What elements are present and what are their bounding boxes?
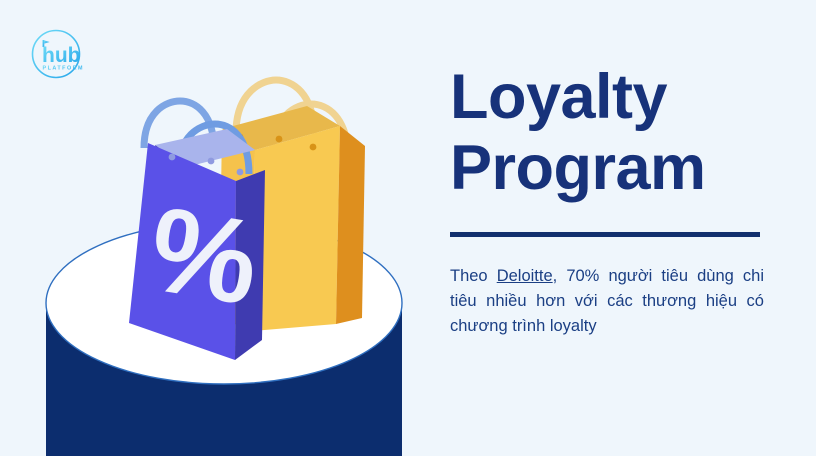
yellow-bag-grommet-icon — [276, 136, 283, 143]
body-lead-text: Theo — [450, 267, 497, 285]
yellow-bag-side-face — [336, 126, 365, 324]
title-divider — [450, 232, 760, 237]
text-column: Loyalty Program Theo Deloitte, 70% người… — [450, 62, 770, 356]
purple-bag-grommet-icon — [169, 154, 176, 161]
purple-bag-grommet-icon — [237, 169, 244, 176]
purple-bag-grommet-icon — [208, 158, 215, 165]
body-paragraph: Theo Deloitte, 70% người tiêu dùng chi t… — [450, 264, 764, 339]
illustration-shopping-bags: % — [0, 0, 440, 456]
slide-canvas: hub PLATFORM — [0, 0, 816, 456]
page-title: Loyalty Program — [450, 62, 770, 203]
yellow-bag-grommet-icon — [310, 144, 317, 151]
deloitte-link[interactable]: Deloitte — [497, 267, 553, 285]
yellow-bag-front-face — [253, 126, 340, 331]
percent-symbol: % — [141, 182, 267, 331]
